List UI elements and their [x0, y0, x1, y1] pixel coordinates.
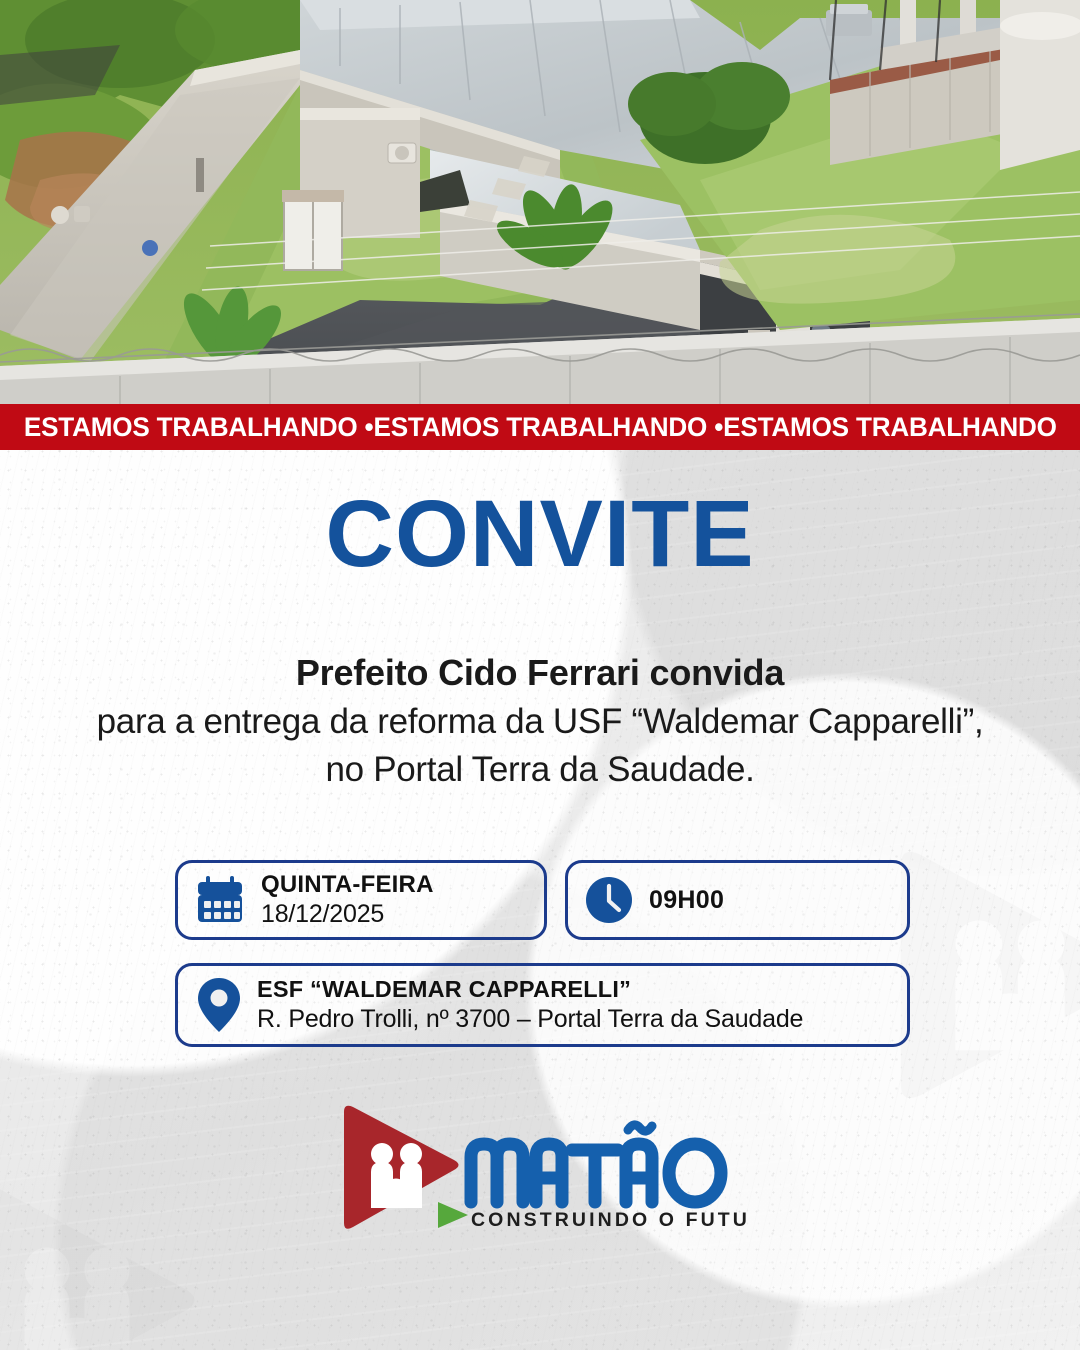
header-photo: [0, 0, 1080, 404]
date-text: QUINTA-FEIRA 18/12/2025: [261, 871, 434, 930]
info-row-bottom: ESF “WALDEMAR CAPPARELLI” R. Pedro Troll…: [175, 963, 910, 1047]
date-box: QUINTA-FEIRA 18/12/2025: [175, 860, 547, 940]
copy-line-2: para a entrega da reforma da USF “Waldem…: [0, 698, 1080, 746]
location-pin-icon: [196, 976, 242, 1034]
logo-green-arrow: [438, 1202, 468, 1228]
place-text: ESF “WALDEMAR CAPPARELLI” R. Pedro Troll…: [257, 976, 803, 1034]
date-weekday: QUINTA-FEIRA: [261, 871, 434, 899]
copy-line-1: Prefeito Cido Ferrari convida: [0, 648, 1080, 698]
logo-wordmark: [471, 1125, 721, 1202]
watermark-logo-right: [880, 845, 1080, 1105]
clock-icon: [584, 875, 634, 925]
time-value: 09H00: [649, 886, 724, 915]
place-address: R. Pedro Trolli, nº 3700 – Portal Terra …: [257, 1004, 803, 1035]
invitation-copy: Prefeito Cido Ferrari convida para a ent…: [0, 648, 1080, 794]
invitation-poster: ESTAMOS TRABALHANDO •ESTAMOS TRABALHANDO…: [0, 0, 1080, 1350]
logo-tagline: CONSTRUINDO O FUTURO: [471, 1209, 748, 1231]
watermark-logo-left: [0, 1175, 202, 1350]
info-row-top: QUINTA-FEIRA 18/12/2025 09H00: [175, 860, 910, 940]
copy-line-3: no Portal Terra da Saudade.: [0, 746, 1080, 794]
date-value: 18/12/2025: [261, 899, 434, 930]
working-banner: ESTAMOS TRABALHANDO •ESTAMOS TRABALHANDO…: [0, 404, 1080, 450]
banner-text: ESTAMOS TRABALHANDO •ESTAMOS TRABALHANDO…: [24, 412, 1057, 443]
place-name: ESF “WALDEMAR CAPPARELLI”: [257, 976, 803, 1004]
time-box: 09H00: [565, 860, 910, 940]
matao-logo: CONSTRUINDO O FUTURO: [338, 1102, 748, 1234]
calendar-icon: [194, 874, 246, 926]
place-box: ESF “WALDEMAR CAPPARELLI” R. Pedro Troll…: [175, 963, 910, 1047]
page-title: CONVITE: [0, 487, 1080, 582]
